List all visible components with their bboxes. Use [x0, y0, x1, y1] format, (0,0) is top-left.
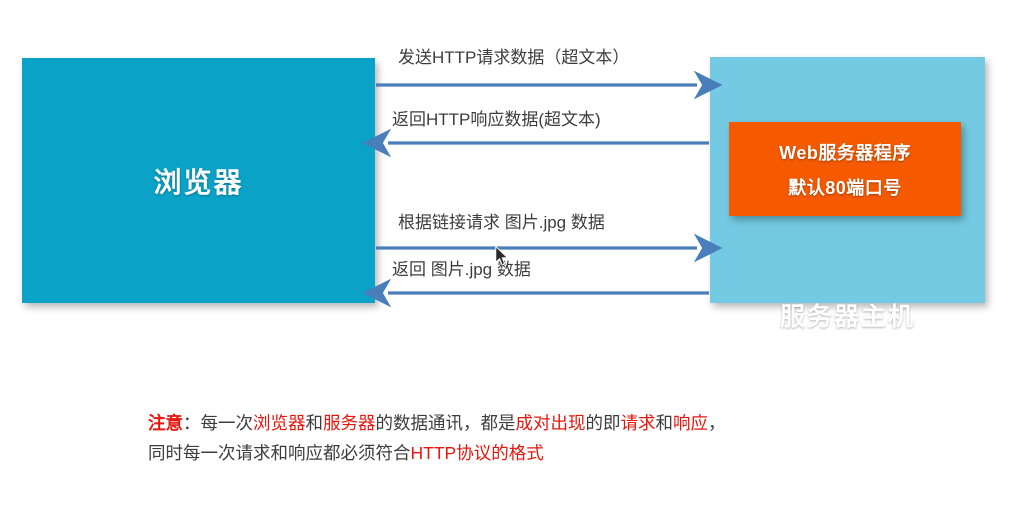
mouse-pointer-icon — [495, 246, 509, 266]
note-seg-4: 的即 — [586, 413, 621, 433]
note-colon: ： — [183, 413, 201, 433]
note-highlight-server: 服务器 — [323, 413, 376, 433]
note-seg-5: 和 — [656, 413, 674, 433]
web-server-program-box: Web服务器程序 默认80端口号 — [729, 122, 961, 216]
note-line-1: 注意：每一次浏览器和服务器的数据通讯，都是成对出现的即请求和响应， — [148, 408, 888, 438]
note-highlight-paired: 成对出现 — [516, 413, 586, 433]
note-line2-seg-1: 同时每一次请求和响应都必须符合 — [148, 443, 411, 463]
note-highlight-browser: 浏览器 — [253, 413, 306, 433]
web-server-default-port-line: 默认80端口号 — [788, 174, 902, 200]
browser-node-label: 浏览器 — [153, 161, 243, 201]
note-seg-3: 的数据通讯，都是 — [376, 413, 516, 433]
browser-node: 浏览器 — [22, 58, 375, 303]
web-server-program-line1: Web服务器程序 — [779, 139, 911, 165]
arrow-label-response-http: 返回HTTP响应数据(超文本) — [392, 105, 601, 130]
note-line-2: 同时每一次请求和响应都必须符合HTTP协议的格式 — [148, 438, 888, 468]
server-node-label: 服务器主机 — [710, 297, 985, 333]
note-seg-1: 每一次 — [201, 413, 254, 433]
arrow-label-request-image: 根据链接请求 图片.jpg 数据 — [398, 208, 605, 233]
note-block: 注意：每一次浏览器和服务器的数据通讯，都是成对出现的即请求和响应， 同时每一次请… — [148, 408, 888, 468]
arrow-label-request-http: 发送HTTP请求数据（超文本） — [398, 43, 629, 68]
note-seg-6: ， — [708, 413, 726, 433]
note-prefix: 注意 — [148, 413, 183, 433]
diagram-canvas: 浏览器 服务器主机 Web服务器程序 默认80端口号 — [0, 0, 1014, 505]
note-highlight-request: 请求 — [621, 413, 656, 433]
note-seg-2: 和 — [306, 413, 324, 433]
note-highlight-http-format: HTTP协议的格式 — [411, 443, 544, 463]
note-highlight-response: 响应 — [673, 413, 708, 433]
arrow-label-response-image: 返回 图片.jpg 数据 — [392, 255, 531, 280]
